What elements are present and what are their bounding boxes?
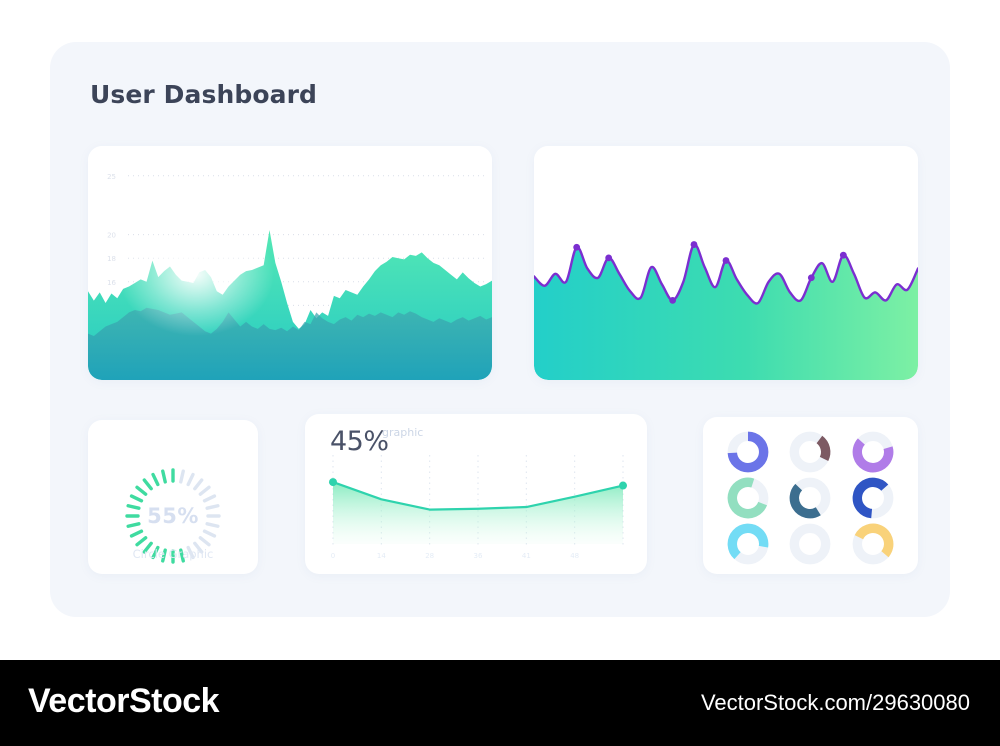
donut-ring-7[interactable] (725, 521, 771, 567)
donut-ring-5[interactable] (787, 475, 833, 521)
dashboard-panel: User Dashboard 10121416182025 55% Circle… (50, 42, 950, 617)
donut-ring-2[interactable] (787, 429, 833, 475)
donut-ring-4[interactable] (725, 475, 771, 521)
svg-text:41: 41 (522, 552, 531, 560)
donut-ring-9[interactable] (850, 521, 896, 567)
circle-gauge-value: 55% (123, 504, 223, 528)
card-circle-gauge[interactable]: 55% Circle Graphic (88, 420, 258, 574)
card-wave-area-chart[interactable] (534, 146, 918, 380)
donut-ring-8[interactable] (787, 521, 833, 567)
percent-value: 45% (330, 426, 389, 457)
screenshot-root: User Dashboard 10121416182025 55% Circle… (0, 0, 1000, 746)
svg-text:16: 16 (107, 279, 116, 287)
svg-text:48: 48 (570, 552, 579, 560)
svg-text:20: 20 (107, 232, 116, 240)
brand-name: VectorStock (28, 682, 219, 721)
circle-gauge-caption: Circle Graphic (88, 547, 258, 561)
svg-text:0: 0 (331, 552, 335, 560)
svg-text:18: 18 (107, 255, 116, 263)
page-title: User Dashboard (90, 80, 317, 109)
svg-text:14: 14 (377, 552, 386, 560)
card-percent-line-chart[interactable]: 45% graphic 01428364148 (305, 414, 647, 574)
watermark-footer: VectorStock VectorStock.com/29630080 (0, 660, 1000, 746)
mountain-area-chart: 10121416182025 (88, 146, 492, 380)
percent-sublabel: graphic (382, 426, 423, 439)
svg-text:25: 25 (107, 173, 116, 181)
donut-ring-6[interactable] (850, 475, 896, 521)
card-mountain-area-chart[interactable]: 10121416182025 (88, 146, 492, 380)
donut-ring-1[interactable] (725, 429, 771, 475)
svg-text:36: 36 (474, 552, 483, 560)
donut-ring-3[interactable] (850, 429, 896, 475)
wave-area-chart (534, 146, 918, 380)
svg-text:28: 28 (425, 552, 434, 560)
brand-url: VectorStock.com/29630080 (701, 690, 970, 716)
card-donut-grid[interactable] (703, 417, 918, 574)
donut-grid (703, 417, 918, 574)
